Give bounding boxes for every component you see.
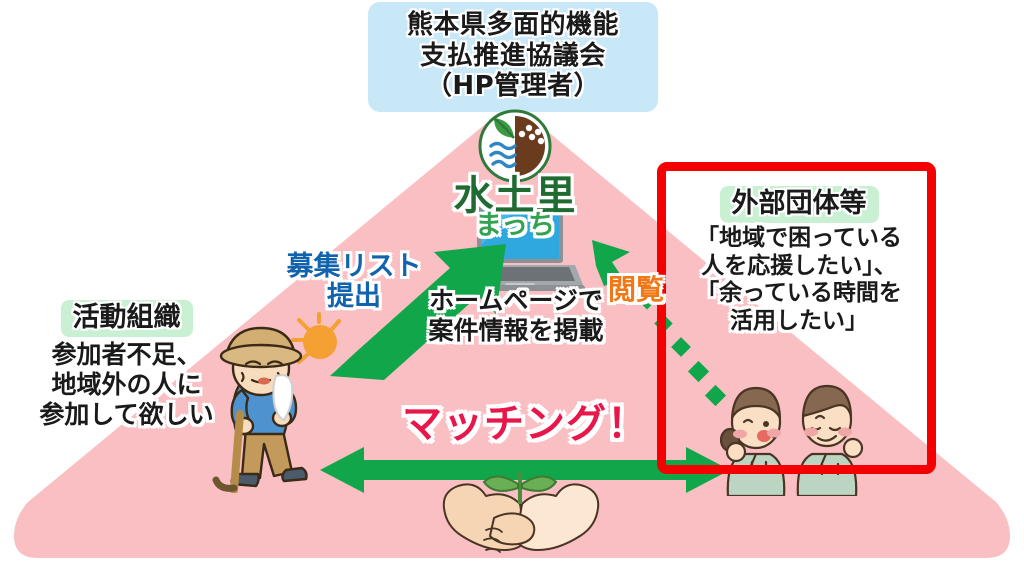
external-organization-tag-label: 外部団体等: [732, 188, 867, 219]
handshake-with-sprout-illustration: [432, 470, 610, 560]
hp-administrator-box: 熊本県多面的機能 支払推進協議会 （HP管理者）: [368, 2, 658, 112]
external-organization-tag: 外部団体等: [720, 186, 879, 223]
external-organization-line-3: 「余っている時間を: [668, 280, 930, 308]
hp-admin-line-1: 熊本県多面的機能: [374, 10, 652, 41]
external-organization-line-1: 「地域で困っている: [668, 225, 930, 253]
external-organization-body: 「地域で困っている 人を応援したい」、 「余っている時間を 活用したい」: [668, 225, 930, 335]
logo-submark: まっち: [430, 212, 600, 239]
activity-organization-line-2: 地域外の人に: [14, 370, 239, 400]
activity-organization-line-1: 参加者不足、: [14, 340, 239, 370]
browse-label: 閲覧: [608, 276, 698, 304]
external-organization-block: 外部団体等 「地域で困っている 人を応援したい」、 「余っている時間を 活用した…: [668, 186, 930, 335]
two-young-volunteers-illustration: [706, 378, 878, 496]
activity-organization-block: 活動組織 参加者不足、 地域外の人に 参加して欲しい: [14, 300, 239, 430]
activity-organization-tag: 活動組織: [61, 300, 193, 337]
matching-label: マッチング！: [380, 404, 670, 444]
activity-organization-tag-label: 活動組織: [73, 302, 181, 333]
hp-admin-line-3: （HP管理者）: [374, 71, 652, 102]
submit-label-line-1: 募集リスト: [274, 252, 434, 282]
publish-label-line-1: ホームページで: [408, 286, 624, 316]
publish-on-homepage-label: ホームページで 案件情報を掲載: [408, 286, 624, 346]
external-organization-line-2: 人を応援したい」、: [668, 253, 930, 281]
activity-organization-body: 参加者不足、 地域外の人に 参加して欲しい: [14, 340, 239, 430]
publish-label-line-2: 案件情報を掲載: [408, 316, 624, 346]
hp-admin-line-2: 支払推進協議会: [374, 41, 652, 72]
activity-organization-line-3: 参加して欲しい: [14, 400, 239, 430]
external-organization-line-4: 活用したい」: [668, 308, 930, 336]
mizudori-match-logo: 水土里 まっち: [430, 108, 600, 239]
infographic-canvas: 熊本県多面的機能 支払推進協議会 （HP管理者）: [0, 0, 1024, 563]
